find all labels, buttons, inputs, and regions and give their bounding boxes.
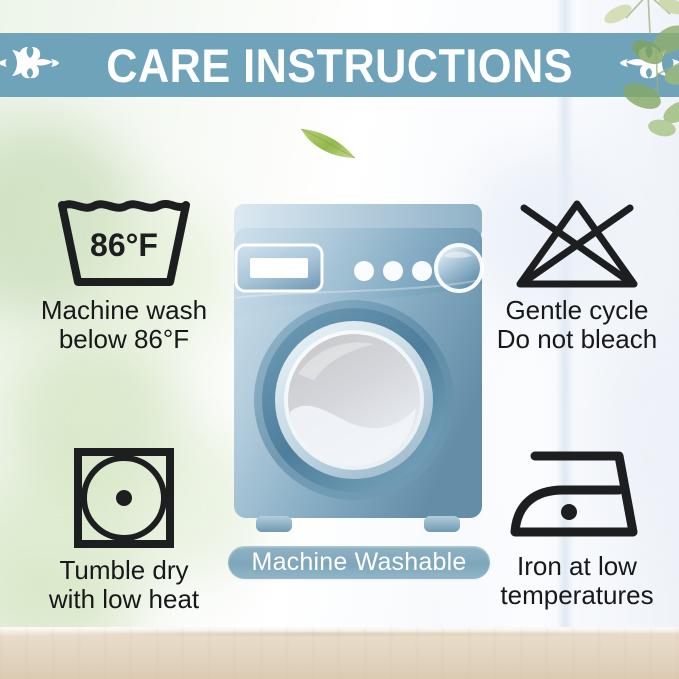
background-table-edge (0, 633, 679, 635)
wash-tub-icon: 86°F (56, 198, 192, 290)
machine-washable-badge-label: Machine Washable (252, 548, 467, 577)
fleur-de-lis-icon-left (0, 42, 60, 89)
care-label-tumble-dry-low: Tumble dry with low heat (49, 556, 199, 614)
washing-machine-illustration (228, 198, 488, 540)
leaf-icon (297, 122, 359, 162)
care-label-gentle-cycle-no-bleach: Gentle cycle Do not bleach (497, 296, 657, 354)
bleach-triangle-crossed-icon (512, 198, 642, 290)
machine-washable-badge: Machine Washable (228, 546, 490, 579)
page-title: CARE INSTRUCTIONS (106, 38, 573, 93)
care-label-iron-low: Iron at low temperatures (500, 552, 653, 610)
tumble-dry-icon (72, 446, 176, 550)
wash-temperature-value: 86°F (90, 227, 158, 263)
iron-icon (507, 446, 647, 546)
header-banner: CARE INSTRUCTIONS (0, 33, 679, 97)
care-item-tumble-dry-low: Tumble dry with low heat (24, 446, 224, 614)
care-instructions-infographic: CARE INSTRUCTIONS (0, 0, 679, 679)
care-item-iron-low: Iron at low temperatures (478, 446, 676, 610)
foliage-branch-icon (596, 0, 679, 138)
care-item-gentle-cycle-no-bleach: Gentle cycle Do not bleach (482, 198, 672, 354)
care-label-machine-wash: Machine wash below 86°F (41, 296, 207, 354)
care-item-machine-wash: 86°F Machine wash below 86°F (24, 198, 224, 354)
